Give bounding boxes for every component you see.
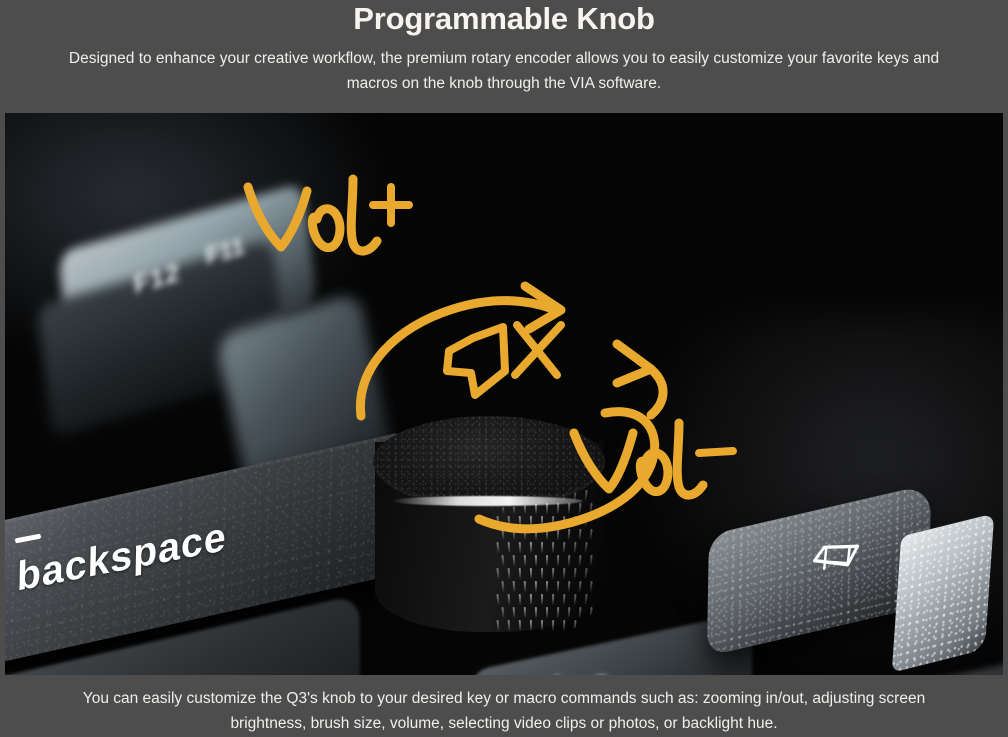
knob-top-texture bbox=[373, 416, 605, 508]
rotary-knob bbox=[363, 400, 615, 635]
knob-knurled-texture bbox=[493, 488, 605, 638]
annotation-mute-icon bbox=[447, 325, 561, 395]
photo-canvas: F12 F11 backspace bbox=[5, 113, 1003, 675]
header-section: Programmable Knob Designed to enhance yo… bbox=[0, 0, 1008, 113]
product-feature-panel: Programmable Knob Designed to enhance yo… bbox=[0, 0, 1008, 737]
knob-rim-highlight bbox=[391, 496, 583, 506]
product-photo: F12 F11 backspace bbox=[5, 113, 1003, 675]
photo-caption: You can easily customize the Q3's knob t… bbox=[54, 675, 954, 736]
page-title: Programmable Knob bbox=[0, 0, 1008, 36]
knob-top-face bbox=[373, 416, 605, 508]
page-subtitle: Designed to enhance your creative workfl… bbox=[64, 36, 944, 96]
caption-line-1: You can easily customize the Q3's knob t… bbox=[83, 690, 808, 707]
subtitle-line-1: Designed to enhance your creative workfl… bbox=[69, 50, 783, 67]
footer-section: You can easily customize the Q3's knob t… bbox=[0, 675, 1008, 737]
